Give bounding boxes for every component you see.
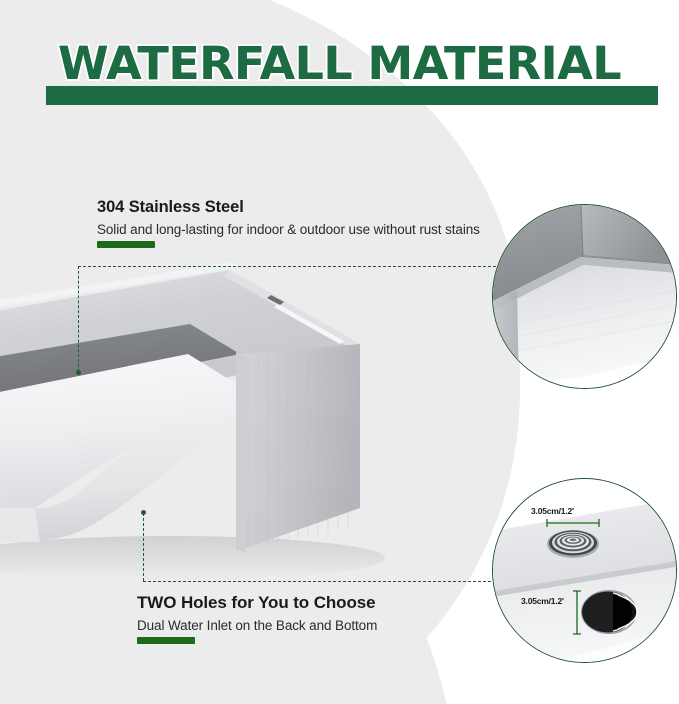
inset-detail-inlet-holes: 3.05cm/1.2' 3.05cm/1.2' <box>492 478 677 663</box>
product-illustration <box>0 258 440 588</box>
feature-rule-holes <box>137 637 195 644</box>
title-banner: WATERFALL MATERIAL WATERFALL MATERIAL <box>0 34 679 110</box>
dimension-label-bottom-inlet: 3.05cm/1.2' <box>521 596 564 606</box>
inset-detail-stainless-finish <box>492 204 677 389</box>
callout-bottom-vertical-line <box>143 513 144 581</box>
feature-heading-holes: TWO Holes for You to Choose <box>137 593 377 613</box>
page-title: WATERFALL MATERIAL <box>0 34 679 94</box>
inset-top-illustration <box>493 205 676 388</box>
feature-rule-material <box>97 241 155 248</box>
feature-block-holes: TWO Holes for You to Choose Dual Water I… <box>137 593 377 644</box>
feature-heading-material: 304 Stainless Steel <box>97 198 480 217</box>
infographic-canvas: WATERFALL MATERIAL WATERFALL MATERIAL <box>0 0 679 704</box>
inset-bottom-illustration <box>493 479 676 662</box>
feature-subtext-material: Solid and long-lasting for indoor & outd… <box>97 222 480 237</box>
threaded-hole-back <box>547 530 599 558</box>
feature-subtext-holes: Dual Water Inlet on the Back and Bottom <box>137 618 377 633</box>
product-image-waterfall-spout <box>0 258 440 588</box>
feature-block-material: 304 Stainless Steel Solid and long-lasti… <box>97 198 480 248</box>
callout-top-horizontal-line <box>78 266 516 267</box>
threaded-hole-bottom <box>581 590 637 634</box>
callout-top-vertical-line <box>78 266 79 372</box>
callout-bottom-horizontal-line <box>143 581 521 582</box>
dimension-label-back-inlet: 3.05cm/1.2' <box>531 506 574 516</box>
